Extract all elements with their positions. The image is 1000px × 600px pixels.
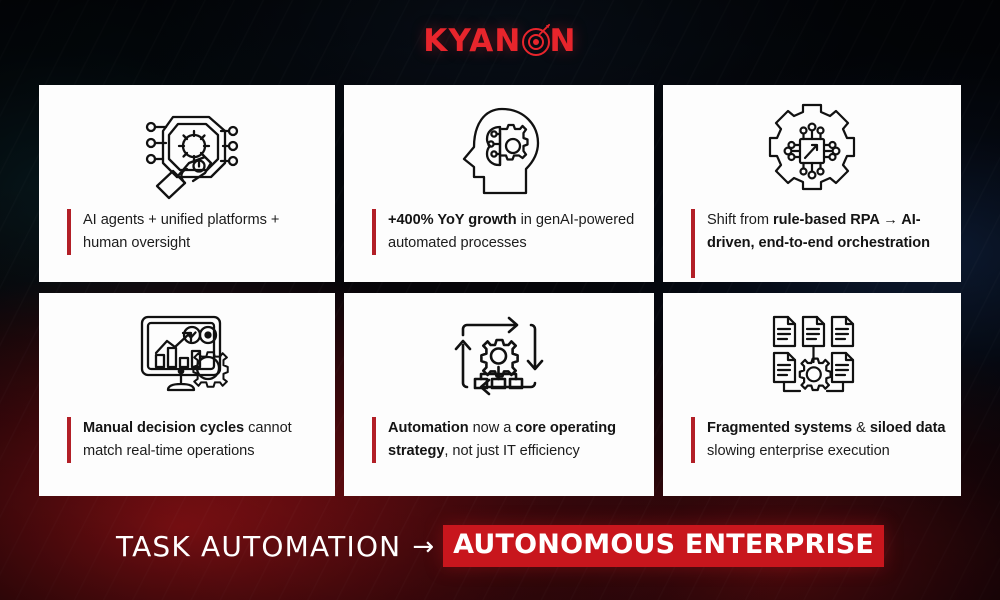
card-text: +400% YoY growth in genAI-powered automa…: [388, 209, 640, 255]
insight-card-grid: AI agents + unified platforms + human ov…: [39, 85, 961, 505]
card-manual-cycles[interactable]: Manual decision cycles cannot match real…: [39, 293, 335, 496]
footer-tagline: TASK AUTOMATION → AUTONOMOUS ENTERPRISE: [0, 515, 1000, 577]
card-text: Shift from rule-based RPA → AI-driven, e…: [707, 209, 947, 278]
accent-bar: [67, 417, 71, 463]
accent-bar: [372, 209, 376, 255]
head-brain-gear-icon: [344, 99, 654, 203]
monitor-dashboard-gear-icon: [39, 307, 335, 411]
logo-text-post: N: [550, 23, 577, 59]
card-text-row: +400% YoY growth in genAI-powered automa…: [344, 209, 654, 255]
card-ai-agents[interactable]: AI agents + unified platforms + human ov…: [39, 85, 335, 282]
hand-holding-chip-gear-icon: [39, 99, 335, 203]
card-fragmented-systems[interactable]: Fragmented systems & siloed data slowing…: [663, 293, 961, 496]
kyanon-logo: KYAN N: [423, 23, 576, 59]
accent-bar: [67, 209, 71, 255]
arrow-right-icon: →: [412, 534, 434, 560]
card-automation-strategy[interactable]: Automation now a core operating strategy…: [344, 293, 654, 496]
workflow-cycle-gear-icon: [344, 307, 654, 411]
logo-text-pre: KYAN: [423, 23, 521, 59]
accent-bar: [691, 209, 695, 278]
card-text: Automation now a core operating strategy…: [388, 417, 640, 463]
card-text: Manual decision cycles cannot match real…: [83, 417, 321, 463]
brand-logo-area: KYAN N: [0, 0, 1000, 82]
card-text: AI agents + unified platforms + human ov…: [83, 209, 321, 255]
card-text-row: Manual decision cycles cannot match real…: [39, 417, 335, 463]
dart-arrow-icon: [538, 23, 551, 36]
card-rpa-shift[interactable]: Shift from rule-based RPA → AI-driven, e…: [663, 85, 961, 282]
footer-plain-text: TASK AUTOMATION: [116, 530, 401, 563]
accent-bar: [691, 417, 695, 463]
gear-microchip-icon: [663, 99, 961, 203]
documents-gear-icon: [663, 307, 961, 411]
card-text-row: Automation now a core operating strategy…: [344, 417, 654, 463]
card-text: Fragmented systems & siloed data slowing…: [707, 417, 947, 463]
footer-badge: AUTONOMOUS ENTERPRISE: [443, 525, 884, 566]
card-genai-growth[interactable]: +400% YoY growth in genAI-powered automa…: [344, 85, 654, 282]
card-text-row: Shift from rule-based RPA → AI-driven, e…: [663, 209, 961, 278]
card-text-row: Fragmented systems & siloed data slowing…: [663, 417, 961, 463]
card-text-row: AI agents + unified platforms + human ov…: [39, 209, 335, 255]
accent-bar: [372, 417, 376, 463]
bullseye-target-icon: [522, 28, 550, 56]
